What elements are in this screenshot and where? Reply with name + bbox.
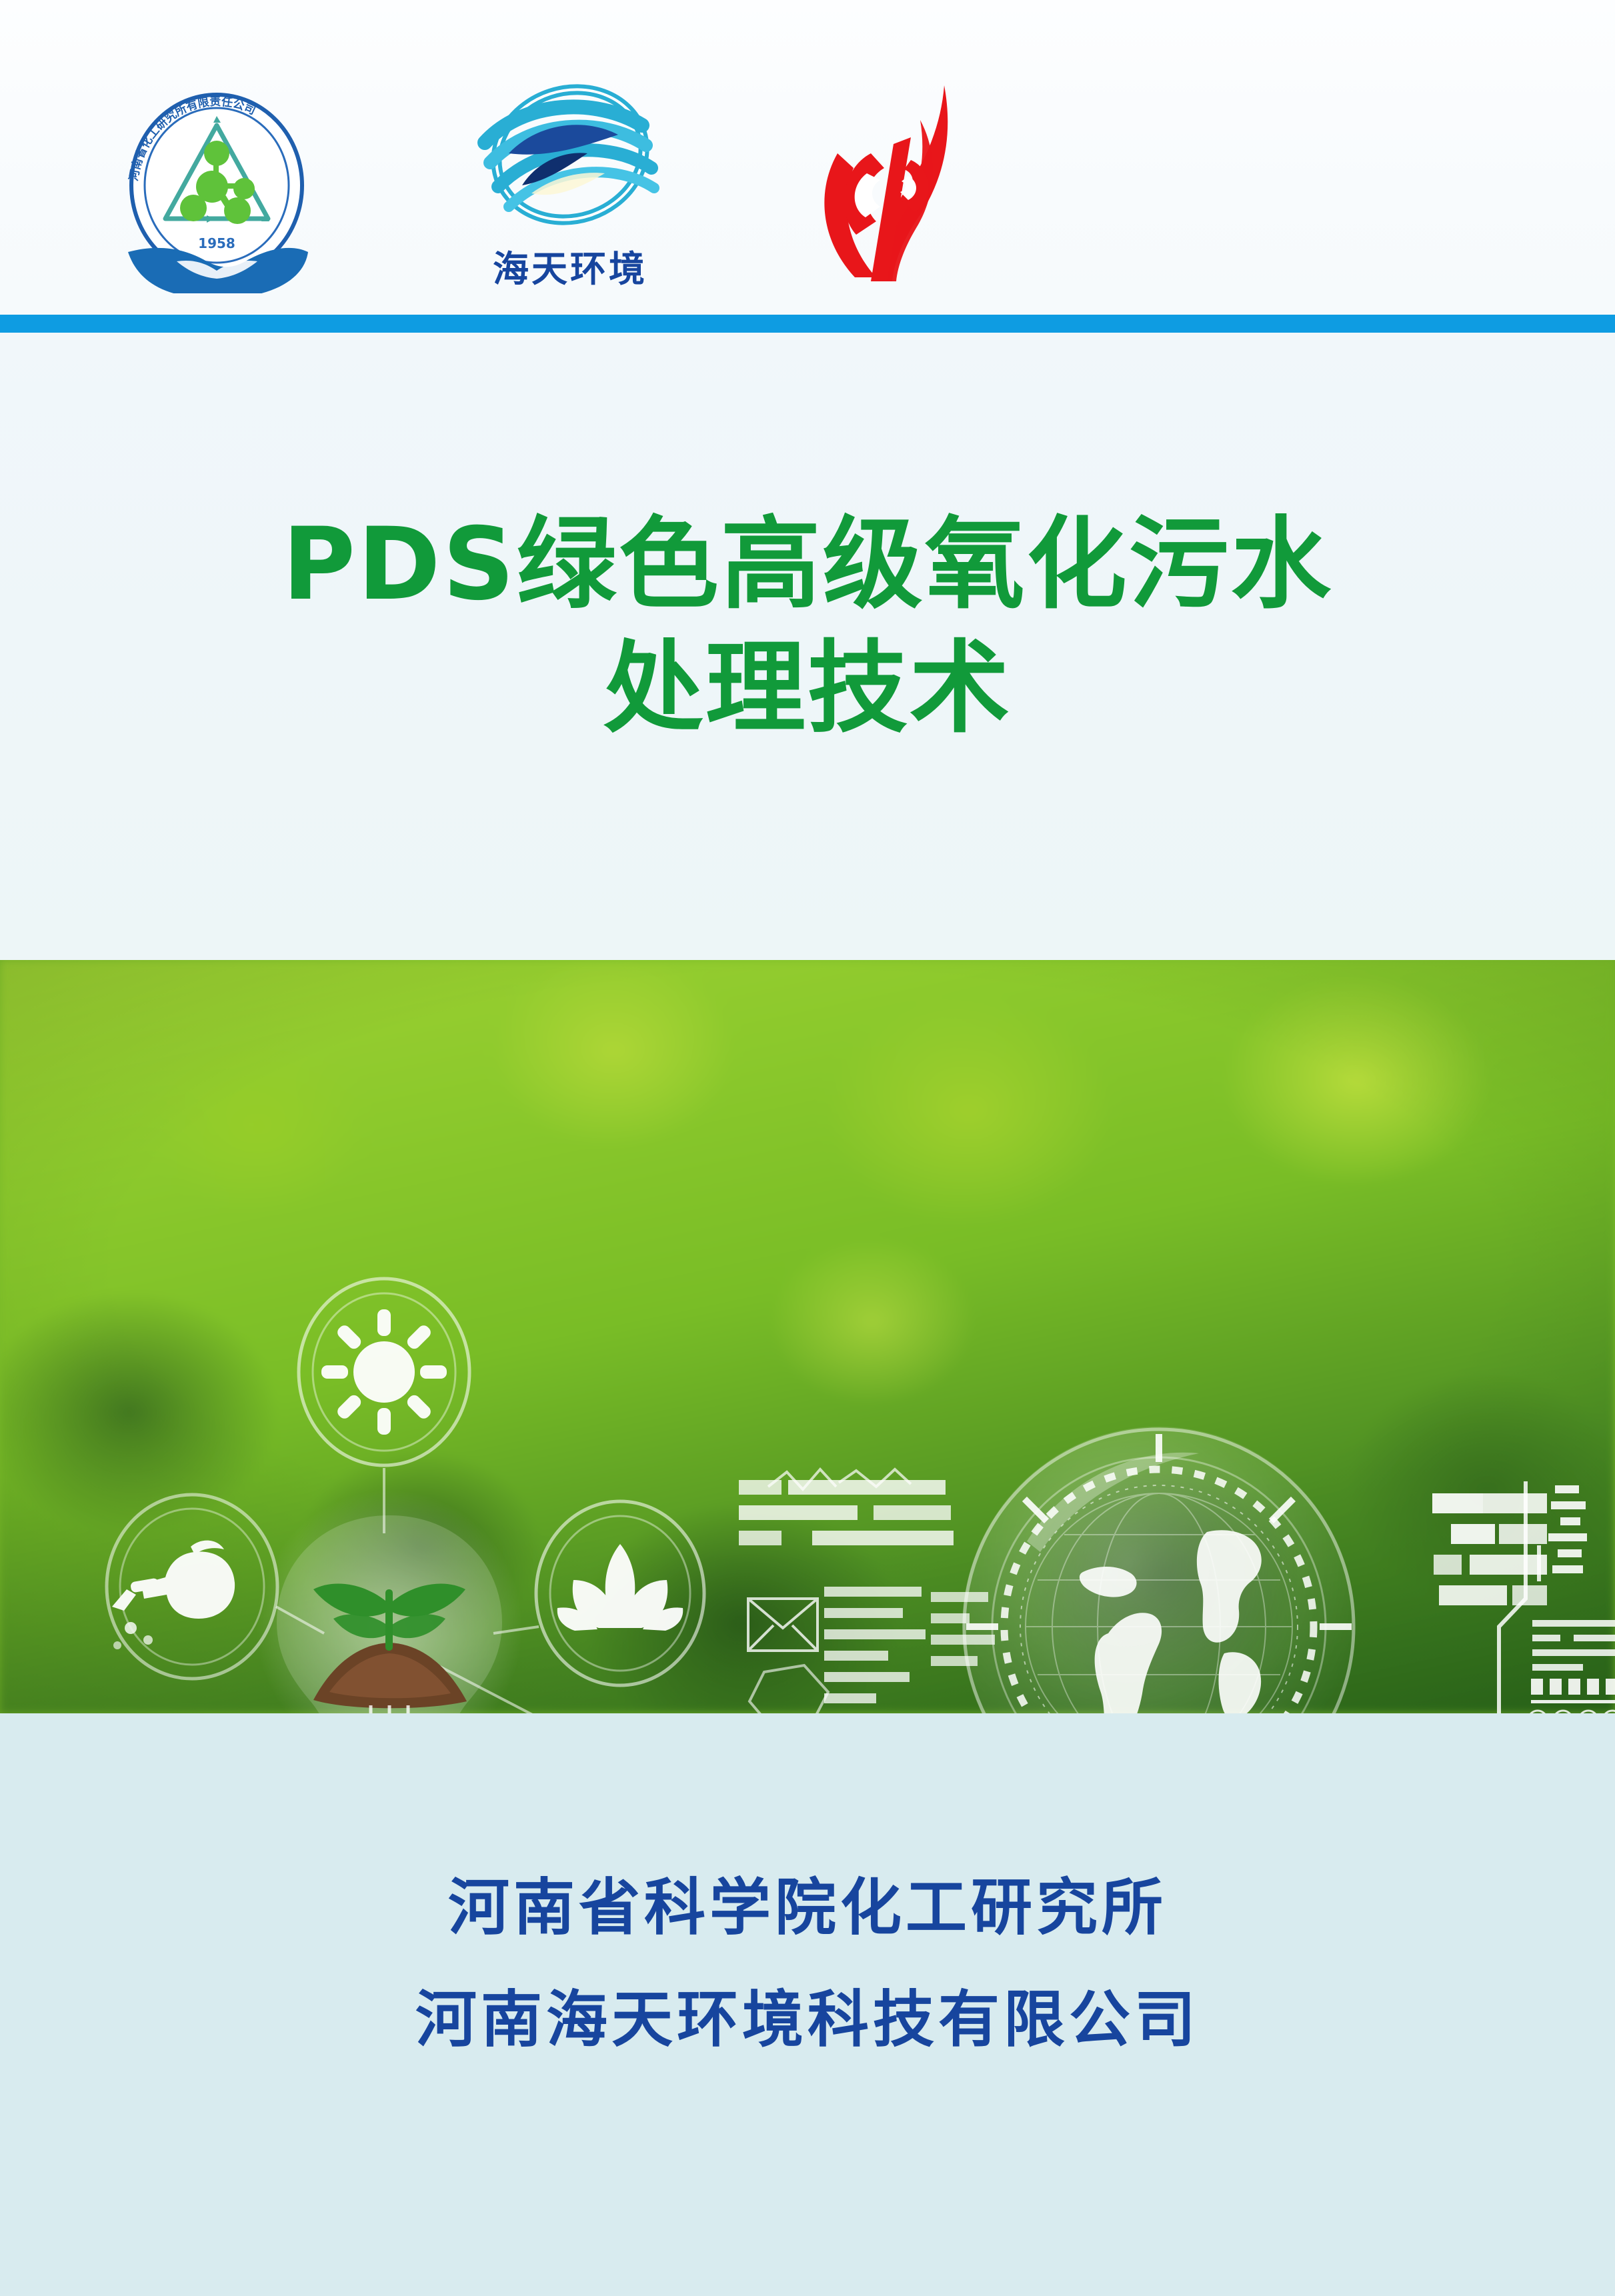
hero-overlay-graphics — [0, 960, 1615, 1713]
haitian-environment-logo: 海天环境 — [457, 80, 683, 293]
title-line-2: 处理技术 — [0, 627, 1615, 751]
red-flame-logo — [787, 73, 987, 293]
lightbulb-sprout-icon — [256, 1490, 523, 1713]
footer-line-2: 河南海天环境科技有限公司 — [0, 1964, 1615, 2076]
globe-icon — [962, 1427, 1356, 1713]
envelope-icon — [748, 1599, 818, 1651]
hero-image — [0, 960, 1615, 1713]
circuit-board-icon — [1432, 1481, 1615, 1713]
footer-band: 河南省科学院化工研究所 河南海天环境科技有限公司 — [0, 1713, 1615, 2296]
sun-icon — [299, 1279, 469, 1465]
haitian-wave-mark — [457, 80, 683, 240]
footer-line-1: 河南省科学院化工研究所 — [0, 1852, 1615, 1964]
poster-page: 河南省化工研究所有限责任公司 — [0, 0, 1615, 2296]
leaves-icon — [536, 1501, 704, 1685]
svg-text:1958: 1958 — [198, 235, 235, 251]
footer-organizations: 河南省科学院化工研究所 河南海天环境科技有限公司 — [0, 1852, 1615, 2076]
page-title: PDS绿色高级氧化污水 处理技术 — [0, 503, 1615, 751]
header-logo-band: 河南省化工研究所有限责任公司 — [0, 0, 1615, 315]
watering-can-icon — [107, 1495, 277, 1679]
accent-divider — [0, 315, 1615, 333]
logo-row: 河南省化工研究所有限责任公司 — [113, 73, 1047, 300]
haitian-wordmark: 海天环境 — [457, 239, 683, 292]
institute-seal-logo: 河南省化工研究所有限责任公司 — [113, 80, 320, 293]
hexagon-icon — [749, 1665, 828, 1713]
title-band: PDS绿色高级氧化污水 处理技术 — [0, 333, 1615, 960]
title-line-1: PDS绿色高级氧化污水 — [0, 503, 1615, 627]
